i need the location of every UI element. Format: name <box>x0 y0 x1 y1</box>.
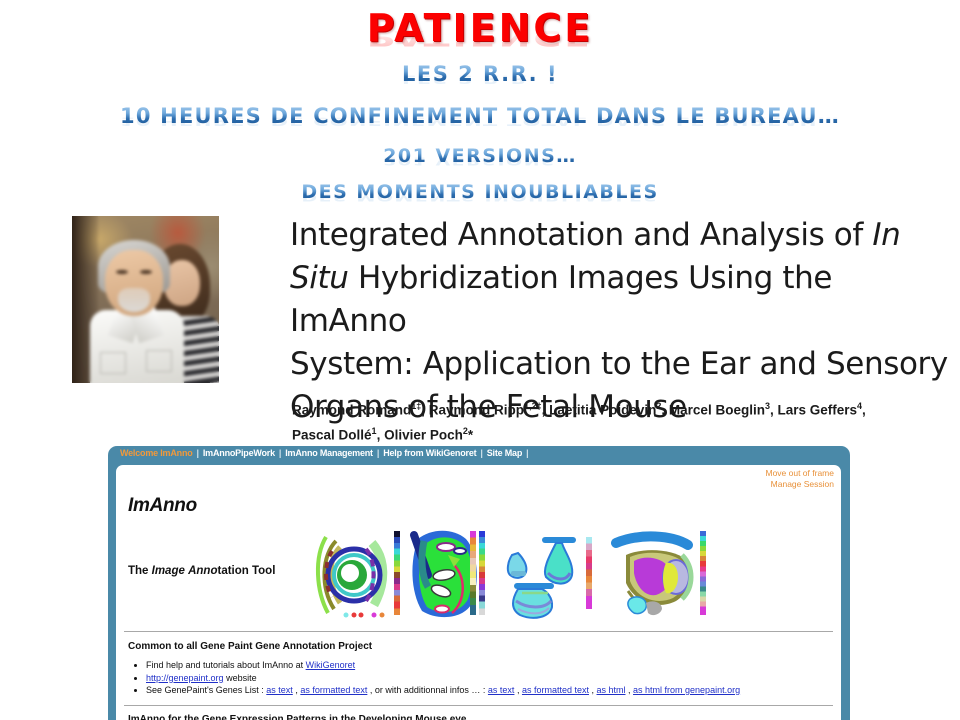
figure-otic-svg <box>498 525 594 621</box>
author-name: Marcel Boeglin <box>669 403 765 418</box>
bullet-text: , <box>589 685 597 695</box>
slide-subtitle-3: 201 VERSIONS… 201 VERSIONS… <box>0 145 960 167</box>
figure-eye-svg <box>610 525 706 621</box>
bullet-link[interactable]: WikiGenoret <box>306 660 356 670</box>
bullet-text: Find help and tutorials about ImAnno at <box>146 660 306 670</box>
paper-title-line1-a: Integrated Annotation and Analysis of <box>290 217 872 253</box>
nav-item-imannopipework[interactable]: ImAnnoPipeWork <box>203 448 275 458</box>
imanno-session-links: Move out of frame Manage Session <box>765 468 834 490</box>
nav-separator: | <box>193 448 203 458</box>
bullet-item: See GenePaint's Genes List : as text , a… <box>146 684 740 697</box>
slide-subtitle-1: LES 2 R.R. ! LES 2 R.R. ! <box>0 62 960 86</box>
divider-bottom <box>124 705 833 706</box>
slide-subtitle-4-text: DES MOMENTS INOUBLIABLES <box>301 181 658 203</box>
slide-subtitle-2-text: 10 HEURES DE CONFINEMENT TOTAL DANS LE B… <box>120 104 840 128</box>
imanno-section-title-2: ImAnno for the Gene Expression Patterns … <box>128 714 466 720</box>
figure-cochlea-legend <box>394 531 400 615</box>
author-affiliation-marker: 1,2‡ <box>524 401 542 411</box>
figure-embryo-legend-a <box>470 531 476 615</box>
author-separator: , <box>661 403 669 418</box>
author-separator: * <box>468 427 473 442</box>
bullet-text: , or with additionnal infos … : <box>367 685 488 695</box>
slide-subtitle-1-text: LES 2 R.R. ! <box>402 62 558 86</box>
author-separator: , <box>862 403 866 418</box>
nav-item-site-map[interactable]: Site Map <box>487 448 522 458</box>
figure-cochlea-section <box>306 525 402 621</box>
slide-subtitle-4: DES MOMENTS INOUBLIABLES DES MOMENTS INO… <box>0 181 960 203</box>
nav-item-imanno-management[interactable]: ImAnno Management <box>285 448 373 458</box>
imanno-banner-figures <box>300 525 725 621</box>
imanno-navbar: Welcome ImAnno|ImAnnoPipeWork|ImAnno Man… <box>108 446 850 462</box>
slide-title-text: PATIENCE <box>367 6 594 50</box>
imanno-browser-frame: Welcome ImAnno|ImAnnoPipeWork|ImAnno Man… <box>108 446 850 720</box>
figure-cochlea-svg <box>306 525 402 621</box>
imanno-page: Move out of frame Manage Session ImAnno … <box>116 465 841 720</box>
bullet-link[interactable]: as html <box>597 685 626 695</box>
figure-embryo-legend-b <box>479 531 485 615</box>
paper-title-line1-italic: In <box>872 217 900 253</box>
group-photo <box>72 216 219 383</box>
nav-separator: | <box>476 448 486 458</box>
bullet-item: http://genepaint.org website <box>146 672 740 685</box>
figure-embryo-section <box>408 525 492 621</box>
slide-subtitle-3-text: 201 VERSIONS… <box>383 145 577 167</box>
tagline-pre: The <box>128 565 152 577</box>
nav-separator: | <box>275 448 285 458</box>
author-name: Laetitia Poidevin <box>549 403 656 418</box>
bullet-text: See GenePaint's Genes List : <box>146 685 266 695</box>
author-separator: , <box>421 403 429 418</box>
author-name: Lars Geffers <box>777 403 857 418</box>
paper-authors: Raymond Romand1‡, Raymond Ripp1,2‡, Laet… <box>292 396 892 445</box>
bullet-item: Find help and tutorials about ImAnno at … <box>146 659 740 672</box>
slide-subtitle-2: 10 HEURES DE CONFINEMENT TOTAL DANS LE B… <box>0 104 960 128</box>
imanno-section-title: Common to all Gene Paint Gene Annotation… <box>128 641 372 652</box>
bullet-link[interactable]: as formatted text <box>300 685 367 695</box>
divider-top <box>124 631 833 632</box>
imanno-logo: ImAnno <box>128 495 197 517</box>
author-separator: , <box>542 403 550 418</box>
figure-otic-legend <box>586 537 592 609</box>
bullet-link[interactable]: as formatted text <box>522 685 589 695</box>
photo-blur-overlay <box>72 216 219 383</box>
bullet-link[interactable]: http://genepaint.org <box>146 673 224 683</box>
author-name: Pascal Dollé <box>292 427 372 442</box>
tagline-em-anno: Anno <box>188 565 217 577</box>
nav-separator: | <box>522 448 532 458</box>
bullet-text: website <box>224 673 257 683</box>
imanno-tagline: The Image Annotation Tool <box>128 565 275 577</box>
author-name: Raymond Ripp <box>429 403 524 418</box>
bullet-link[interactable]: as text <box>488 685 515 695</box>
bullet-link[interactable]: as html from genepaint.org <box>633 685 740 695</box>
tagline-em-image: Image <box>152 565 185 577</box>
author-name: Olivier Poch <box>384 427 463 442</box>
figure-eye-section <box>610 525 714 621</box>
tagline-post: tation Tool <box>217 565 275 577</box>
author-name: Raymond Romand <box>292 403 411 418</box>
author-separator: , <box>377 427 385 442</box>
paper-title-line3: System: Application to the Ear and Senso… <box>290 346 948 382</box>
move-out-of-frame-link[interactable]: Move out of frame <box>765 468 834 479</box>
paper-title-line2-italic: Situ <box>290 260 349 296</box>
nav-separator: | <box>373 448 383 458</box>
figure-otic-vesicles <box>498 525 602 621</box>
nav-item-welcome-imanno[interactable]: Welcome ImAnno <box>120 448 193 458</box>
slide-title: PATIENCE PATIENCE <box>0 6 960 50</box>
imanno-bullet-list: Find help and tutorials about ImAnno at … <box>134 659 740 697</box>
bullet-text: , <box>626 685 634 695</box>
nav-item-help-from-wikigenoret[interactable]: Help from WikiGenoret <box>383 448 476 458</box>
bullet-link[interactable]: as text <box>266 685 293 695</box>
manage-session-link[interactable]: Manage Session <box>765 479 834 490</box>
author-affiliation-marker: 1‡ <box>411 401 421 411</box>
bullet-text: , <box>514 685 522 695</box>
paper-title-line2-b: Hybridization Images Using the ImAnno <box>290 260 832 339</box>
figure-eye-legend <box>700 531 706 615</box>
